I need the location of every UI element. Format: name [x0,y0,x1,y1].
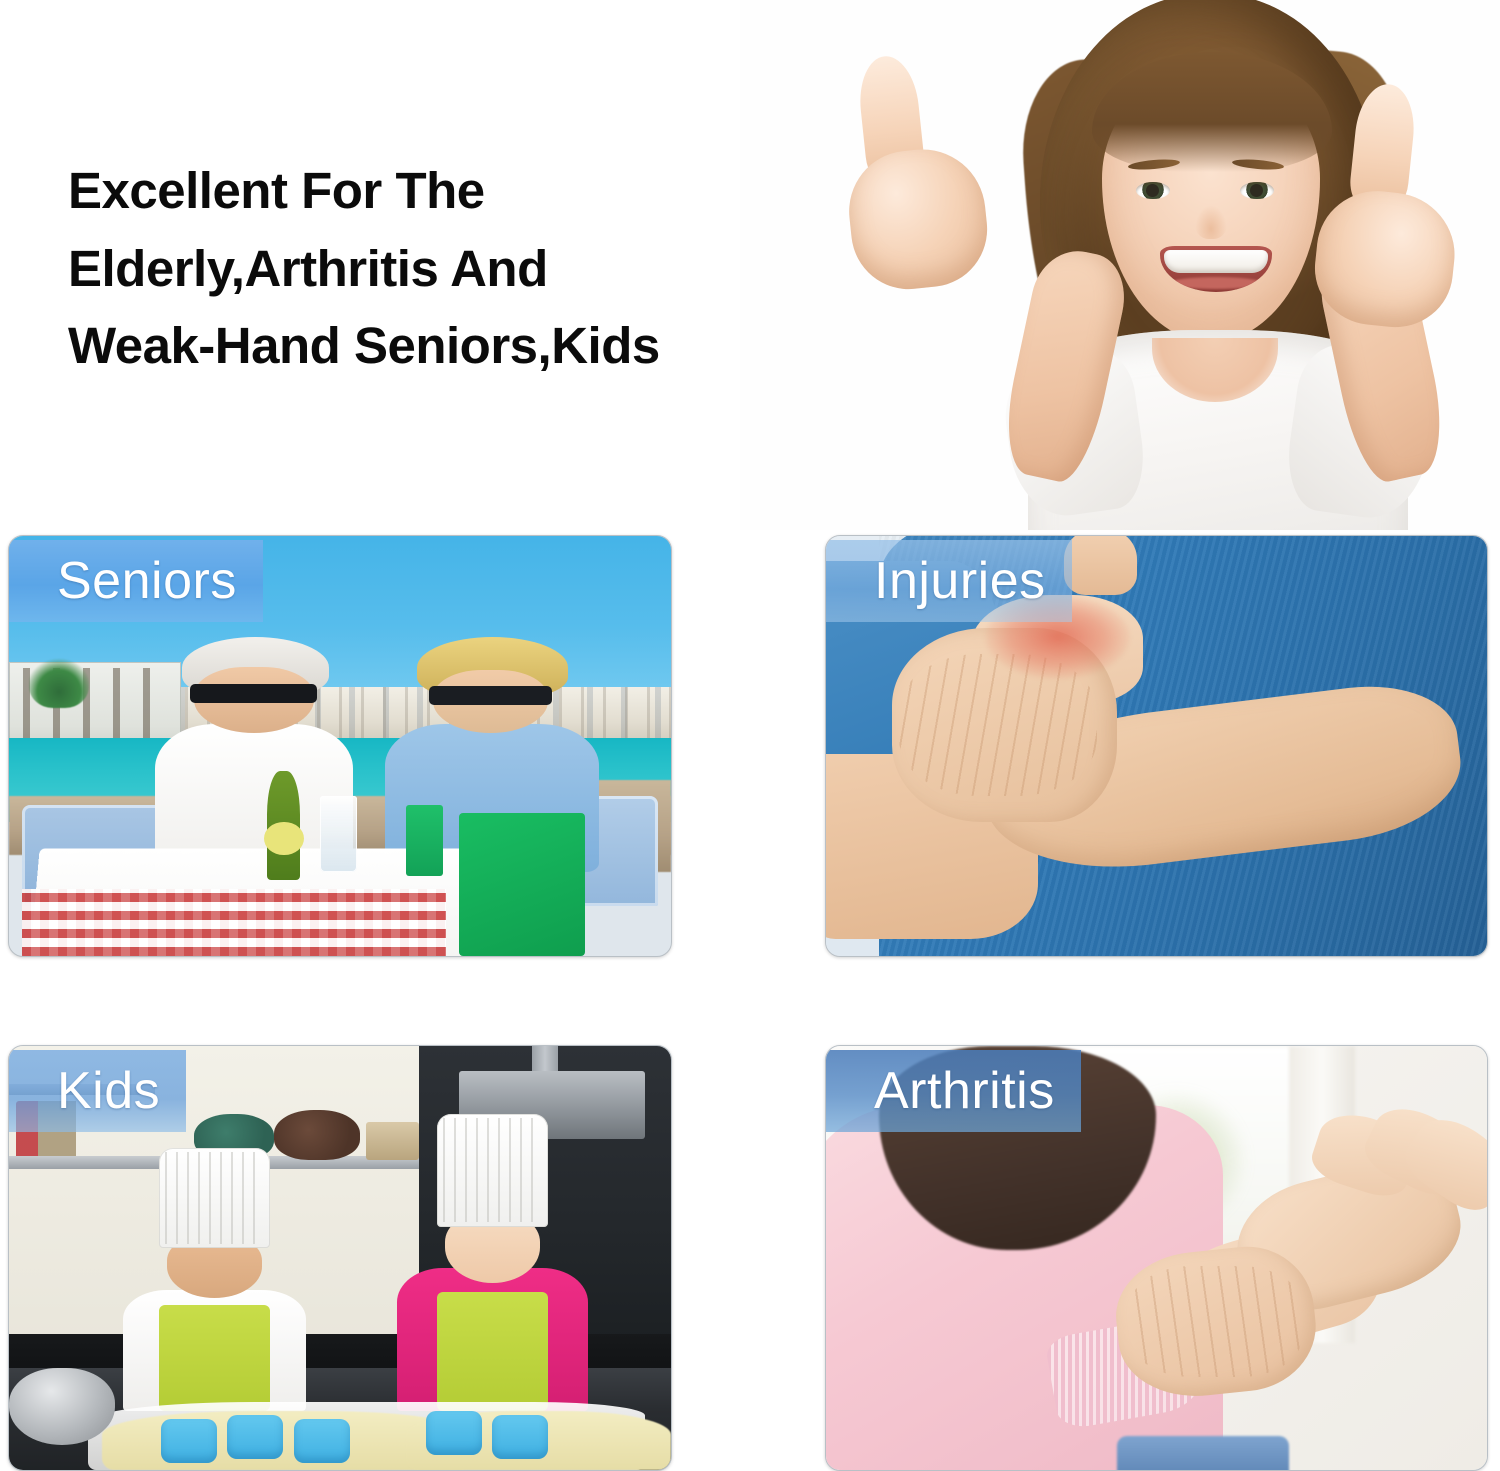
kids-cookie-cutter-5 [492,1415,548,1459]
use-case-card-arthritis[interactable]: Arthritis [825,1045,1488,1471]
seniors-woman-sunglasses [429,686,552,705]
card-label-seniors: Seniors [9,540,263,622]
kids-boy-chef-hat [159,1148,270,1248]
hero-mouth [1160,246,1272,292]
headline-line-2: Elderly,Arthritis And [68,230,828,308]
kids-cookie-cutter-2 [227,1415,283,1459]
card-label-injuries: Injuries [826,540,1072,622]
hero-pupil-left [1146,184,1159,197]
kids-boy [115,1148,314,1411]
card-label-kids: Kids [9,1050,186,1132]
use-case-card-kids[interactable]: Kids [8,1045,672,1471]
use-case-card-injuries[interactable]: Injuries [825,535,1488,957]
seniors-man-sunglasses [190,684,317,703]
kids-boy-apron [159,1305,270,1410]
kids-girl-apron [437,1292,548,1411]
hero-hand-right [1296,62,1476,322]
kids-girl-chef-hat [437,1114,548,1227]
seniors-palm-tree [29,654,89,708]
hero-nose [1195,205,1227,239]
kids-girl [393,1114,592,1411]
arthritis-finger-lines [1130,1266,1302,1376]
seniors-green-can [406,805,442,876]
headline-line-1: Excellent For The [68,152,828,230]
seniors-bottle-label [264,822,304,856]
kids-cookie-cutter-3 [294,1419,350,1463]
hero-teeth [1164,250,1268,273]
card-label-arthritis: Arthritis [826,1050,1081,1132]
use-case-card-seniors[interactable]: Seniors [8,535,672,957]
injuries-thumb [1064,536,1137,595]
hero-image-girl-thumbs-up [740,0,1500,530]
hero-fist-right [1309,185,1460,333]
page-headline: Excellent For The Elderly,Arthritis And … [68,152,828,385]
kids-cookie-cutter-4 [426,1411,482,1455]
kids-cookie-cutter-1 [161,1419,217,1463]
seniors-gingham-tablecloth [22,889,446,956]
arthritis-jeans [1117,1436,1289,1470]
seniors-water-glass [320,796,356,872]
headline-line-3: Weak-Hand Seniors,Kids [68,307,828,385]
seniors-green-bag [459,813,585,956]
hero-lower-lip [1170,277,1262,289]
hero-pupil-right [1250,184,1263,197]
kids-mixing-bowl [9,1368,115,1444]
